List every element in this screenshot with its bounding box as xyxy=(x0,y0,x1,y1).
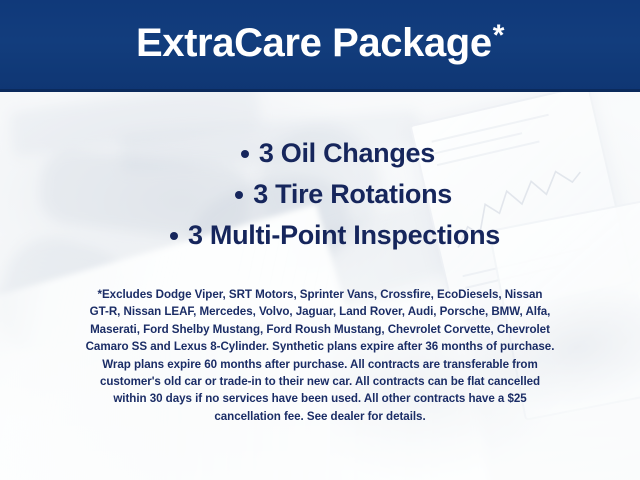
benefit-label: 3 Multi-Point Inspections xyxy=(188,222,500,249)
disclaimer-line: within 30 days if no services have been … xyxy=(20,390,620,407)
list-item: 3 Tire Rotations xyxy=(0,181,640,208)
bullet-dot-icon xyxy=(241,150,249,158)
benefit-label: 3 Oil Changes xyxy=(259,140,435,167)
disclaimer-line: Maserati, Ford Shelby Mustang, Ford Rous… xyxy=(20,321,620,338)
disclaimer-text: *Excludes Dodge Viper, SRT Motors, Sprin… xyxy=(20,286,620,425)
benefits-list: 3 Oil Changes 3 Tire Rotations 3 Multi-P… xyxy=(0,140,640,249)
page-title-text: ExtraCare Package xyxy=(136,21,492,66)
list-item: 3 Oil Changes xyxy=(0,140,640,167)
extracare-package-poster: ExtraCare Package* 3 Oil Changes 3 Tire … xyxy=(0,0,640,480)
page-title: ExtraCare Package* xyxy=(0,0,640,89)
bullet-dot-icon xyxy=(235,191,243,199)
disclaimer-line: Camaro SS and Lexus 8-Cylinder. Syntheti… xyxy=(20,338,620,355)
disclaimer-line: customer's old car or trade-in to their … xyxy=(20,373,620,390)
disclaimer-line: GT-R, Nissan LEAF, Mercedes, Volvo, Jagu… xyxy=(20,303,620,320)
disclaimer-line: *Excludes Dodge Viper, SRT Motors, Sprin… xyxy=(20,286,620,303)
list-item: 3 Multi-Point Inspections xyxy=(0,222,640,249)
header-band: ExtraCare Package* xyxy=(0,0,640,92)
disclaimer-line: cancellation fee. See dealer for details… xyxy=(20,408,620,425)
benefit-label: 3 Tire Rotations xyxy=(253,181,452,208)
bullet-dot-icon xyxy=(170,232,178,240)
disclaimer-line: Wrap plans expire 60 months after purcha… xyxy=(20,356,620,373)
